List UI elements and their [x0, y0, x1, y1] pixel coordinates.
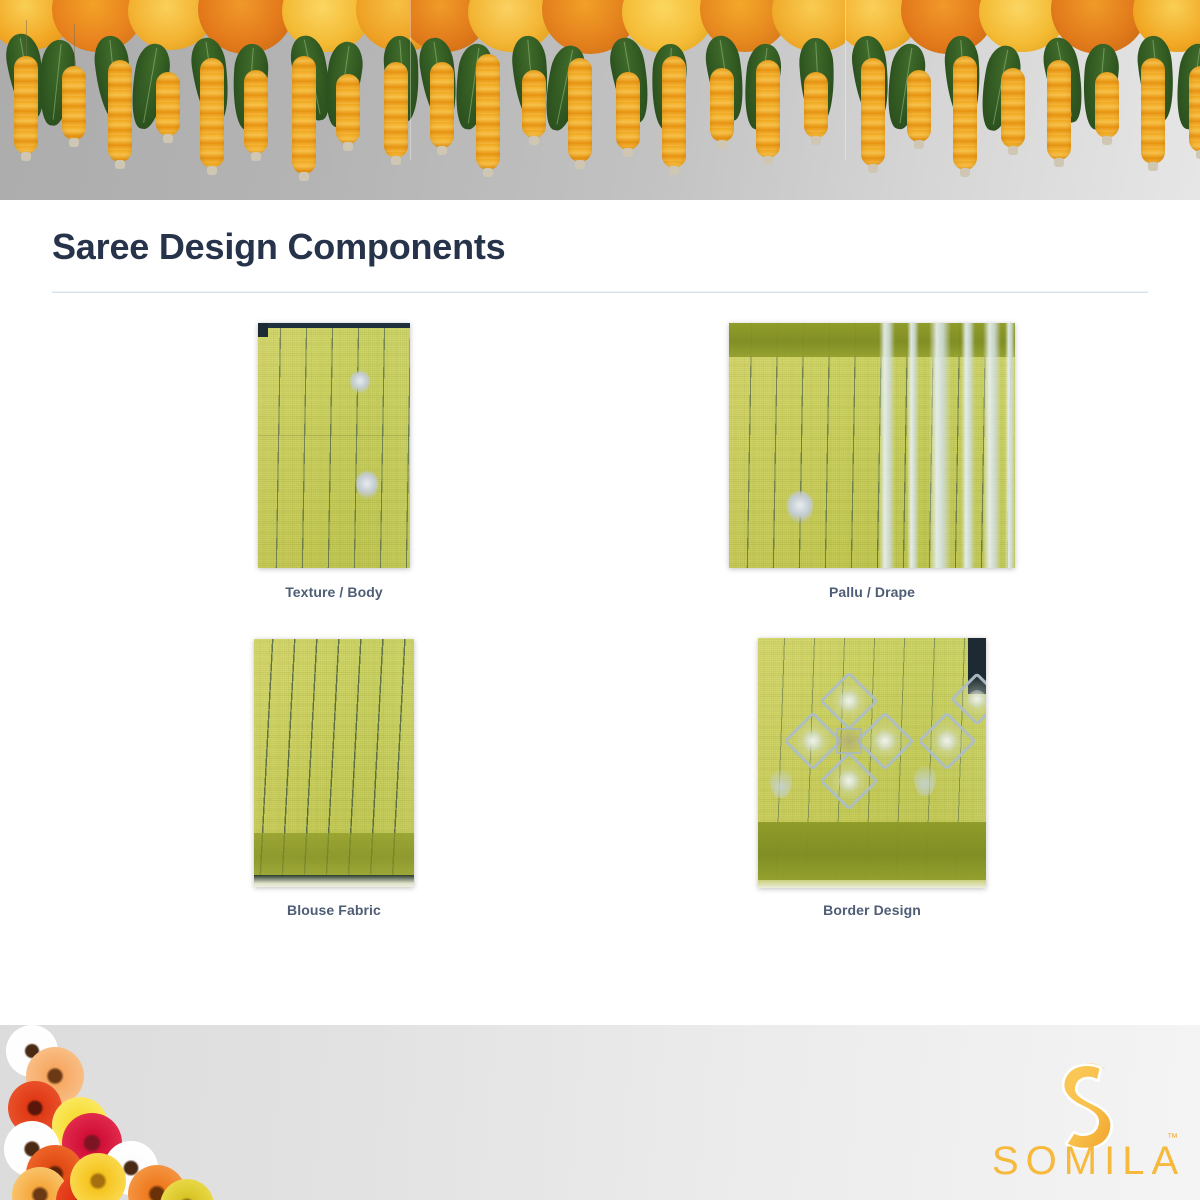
- silver-motif: [350, 371, 370, 393]
- marigold-strand: [62, 66, 86, 140]
- marigold-strand: [907, 70, 931, 142]
- center-motif: [836, 728, 862, 754]
- garland-panel: [410, 0, 845, 200]
- gallery-item-caption: Pallu / Drape: [598, 584, 1146, 600]
- marigold-strand: [476, 54, 500, 170]
- marigold-strand: [430, 62, 454, 148]
- header-decorative-band: [0, 0, 1200, 200]
- gallery-item-border-design[interactable]: Border Design: [598, 638, 1146, 918]
- somila-s-monogram-icon: [1044, 1060, 1130, 1150]
- marigold-strand: [861, 58, 885, 166]
- thumbnail-wrapper: [60, 320, 608, 570]
- somila-wordmark: SOMILA: [992, 1139, 1182, 1184]
- marigold-strand: [14, 56, 38, 154]
- marigold-strand: [200, 58, 224, 168]
- marigold-strand: [710, 68, 734, 142]
- somila-logo[interactable]: SOMILA ™: [992, 1060, 1182, 1192]
- title-divider: [52, 291, 1148, 293]
- marigold-strand: [156, 72, 180, 136]
- fabric-image-border-design[interactable]: [758, 638, 986, 888]
- gallery-item-caption: Texture / Body: [60, 584, 608, 600]
- marigold-strand: [756, 60, 780, 158]
- marigold-strand: [1095, 72, 1119, 138]
- silver-motif: [356, 471, 378, 499]
- garland-panel: [845, 0, 1200, 200]
- marigold-strand: [568, 58, 592, 162]
- thumbnail-wrapper: [598, 320, 1146, 570]
- marigold-strand: [1189, 66, 1200, 152]
- fabric-image-blouse-fabric[interactable]: [254, 639, 414, 887]
- marigold-strand: [616, 72, 640, 150]
- gallery-item-blouse-fabric[interactable]: Blouse Fabric: [60, 638, 608, 918]
- marigold-strand: [244, 70, 268, 154]
- marigold-strand: [1141, 58, 1165, 164]
- fabric-image-pallu-drape[interactable]: [729, 323, 1015, 568]
- gallery-item-caption: Border Design: [598, 902, 1146, 918]
- marigold-strand: [336, 74, 360, 144]
- thumbnail-wrapper: [598, 638, 1146, 888]
- marigold-strand: [662, 56, 686, 168]
- marigold-strand: [292, 56, 316, 174]
- marigold-strand: [522, 70, 546, 138]
- marigold-strand: [953, 56, 977, 170]
- marigold-strand: [804, 72, 828, 138]
- slide-content: Saree Design Components Texture / Body: [0, 200, 1200, 1025]
- gallery-item-pallu-drape[interactable]: Pallu / Drape: [598, 320, 1146, 600]
- footer-decorative-band: SOMILA ™: [0, 1025, 1200, 1200]
- marigold-strand: [384, 62, 408, 158]
- marigold-strand: [1001, 68, 1025, 148]
- silver-motif: [787, 491, 813, 523]
- gerbera-flower-yellow: [70, 1153, 126, 1200]
- marigold-strand: [108, 60, 132, 162]
- trademark-symbol: ™: [1167, 1132, 1178, 1144]
- garland-panel: [0, 0, 435, 200]
- page-title: Saree Design Components: [52, 226, 506, 268]
- marigold-strand: [1047, 60, 1071, 160]
- thumbnail-wrapper: [60, 638, 608, 888]
- gallery-item-texture-body[interactable]: Texture / Body: [60, 320, 608, 600]
- fabric-image-texture-body[interactable]: [258, 323, 410, 568]
- gallery-item-caption: Blouse Fabric: [60, 902, 608, 918]
